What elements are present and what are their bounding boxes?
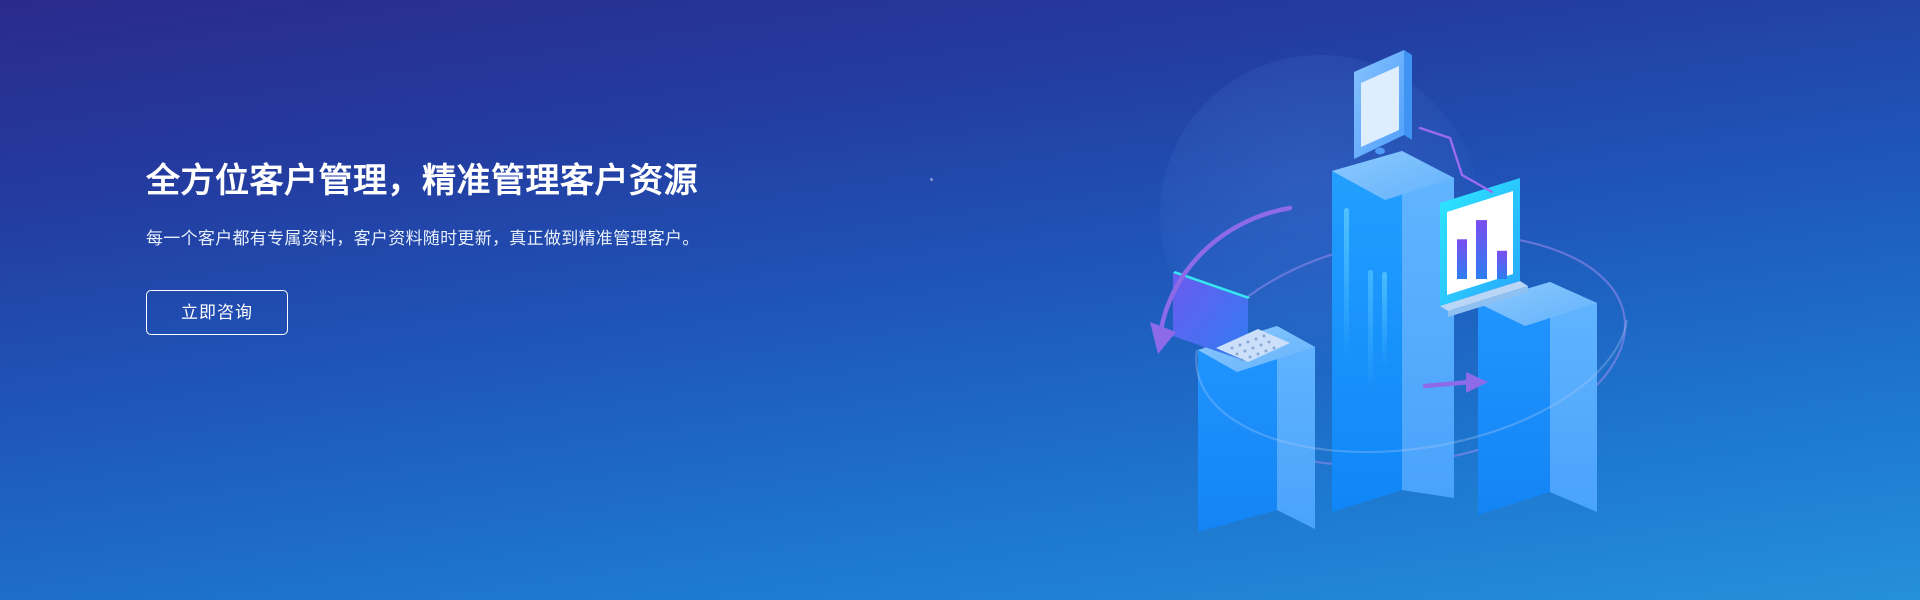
hero-illustration	[1140, 20, 1840, 580]
pillar-center	[1332, 151, 1454, 512]
phone-device-icon	[1354, 50, 1412, 159]
consult-now-button[interactable]: 立即咨询	[146, 290, 288, 335]
laptop-device-icon	[1173, 271, 1290, 362]
background-speck-decoration	[930, 178, 933, 181]
pillar-right	[1478, 282, 1597, 515]
hero-copy-block: 全方位客户管理，精准管理客户资源 每一个客户都有专属资料，客户资料随时更新，真正…	[146, 160, 786, 335]
hero-subtitle: 每一个客户都有专属资料，客户资料随时更新，真正做到精准管理客户。	[146, 225, 746, 253]
page-title: 全方位客户管理，精准管理客户资源	[146, 160, 786, 203]
hero-banner: 全方位客户管理，精准管理客户资源 每一个客户都有专属资料，客户资料随时更新，真正…	[0, 0, 1920, 600]
